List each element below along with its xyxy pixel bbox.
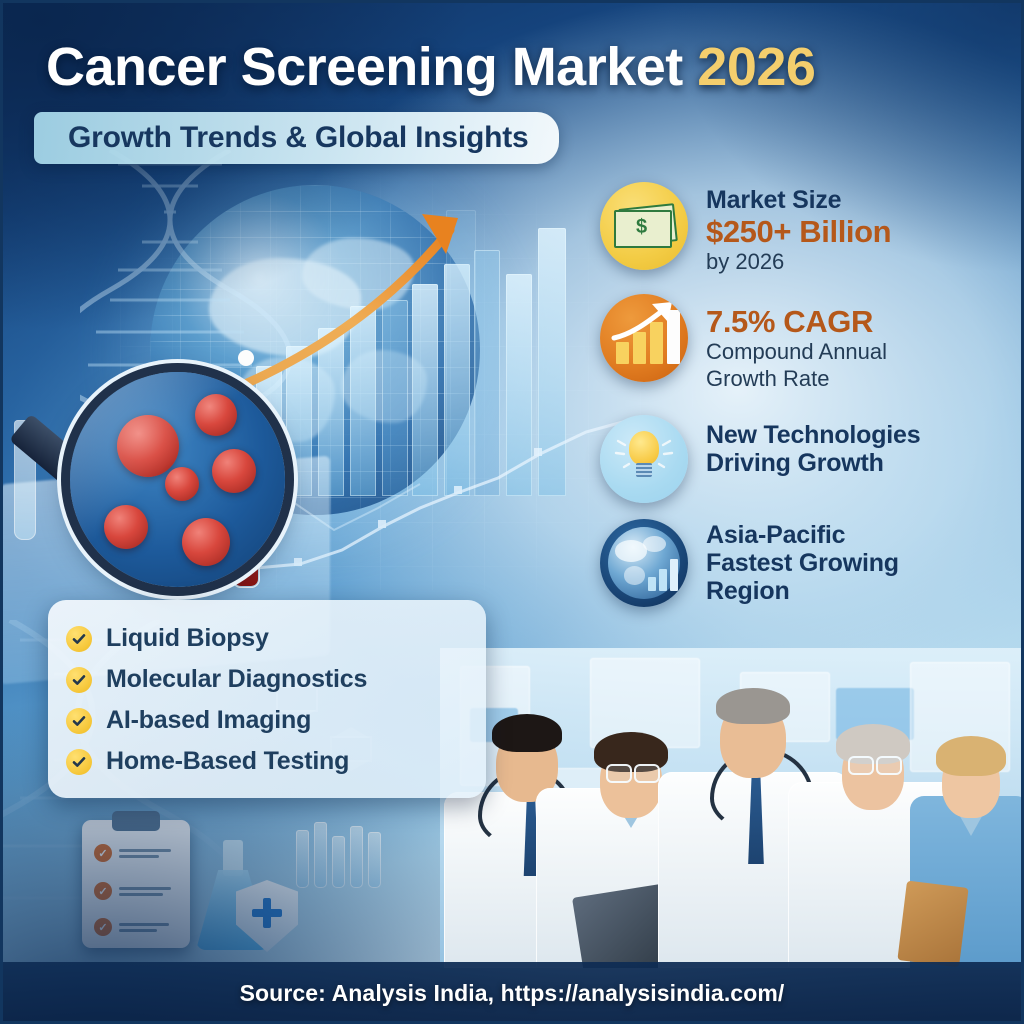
source-text[interactable]: Source: Analysis India, https://analysis… (240, 980, 785, 1007)
subtitle-text: Growth Trends & Global Insights (68, 121, 529, 155)
medical-team-photo (440, 648, 1024, 968)
stat-new-technologies: New Technologies Driving Growth (600, 415, 1010, 503)
features-checklist: Liquid Biopsy Molecular Diagnostics AI-b… (48, 600, 486, 798)
stat-market-size: $ Market Size $250+ Billion by 2026 (600, 182, 1010, 276)
money-icon: $ (600, 182, 688, 270)
checklist-item[interactable]: Home-Based Testing (66, 747, 466, 776)
person-5 (910, 720, 1024, 968)
growth-chart-icon (600, 294, 688, 382)
checklist-item[interactable]: Liquid Biopsy (66, 624, 466, 653)
stat-value: 7.5% CAGR (706, 304, 956, 339)
check-icon (66, 667, 92, 693)
subtitle-banner: Growth Trends & Global Insights (34, 112, 559, 164)
title-main: Cancer Screening Market (46, 37, 683, 97)
stat-value: $250+ Billion (706, 214, 891, 249)
stats-list: $ Market Size $250+ Billion by 2026 (600, 182, 1010, 625)
safety-glasses-icon (606, 764, 660, 780)
lightbulb-icon (600, 415, 688, 503)
safety-glasses-icon (848, 756, 902, 772)
infographic-canvas: ✓ ✓ ✓ (0, 0, 1024, 1024)
checklist-item[interactable]: AI-based Imaging (66, 706, 466, 735)
checklist-item[interactable]: Molecular Diagnostics (66, 665, 466, 694)
checklist-label: Liquid Biopsy (106, 624, 269, 653)
stat-value: Fastest Growing Region (706, 549, 956, 605)
globe-chart-icon (600, 519, 688, 607)
source-footer: Source: Analysis India, https://analysis… (0, 962, 1024, 1024)
check-icon (66, 749, 92, 775)
checklist-label: Molecular Diagnostics (106, 665, 367, 694)
checklist-label: AI-based Imaging (106, 706, 311, 735)
clipboard-held-2 (897, 881, 968, 968)
stat-label: Market Size (706, 186, 891, 214)
stat-sub: Compound Annual Growth Rate (706, 339, 956, 393)
checklist-label: Home-Based Testing (106, 747, 349, 776)
page-title: Cancer Screening Market 2026 (46, 36, 815, 98)
stat-cagr: 7.5% CAGR Compound Annual Growth Rate (600, 294, 1010, 393)
check-icon (66, 626, 92, 652)
stat-asia-pacific: Asia-Pacific Fastest Growing Region (600, 519, 1010, 607)
stat-label: Asia-Pacific (706, 521, 956, 549)
stat-sub: by 2026 (706, 249, 891, 276)
check-icon (66, 708, 92, 734)
title-year: 2026 (697, 37, 815, 97)
stat-label: New Technologies Driving Growth (706, 421, 966, 477)
